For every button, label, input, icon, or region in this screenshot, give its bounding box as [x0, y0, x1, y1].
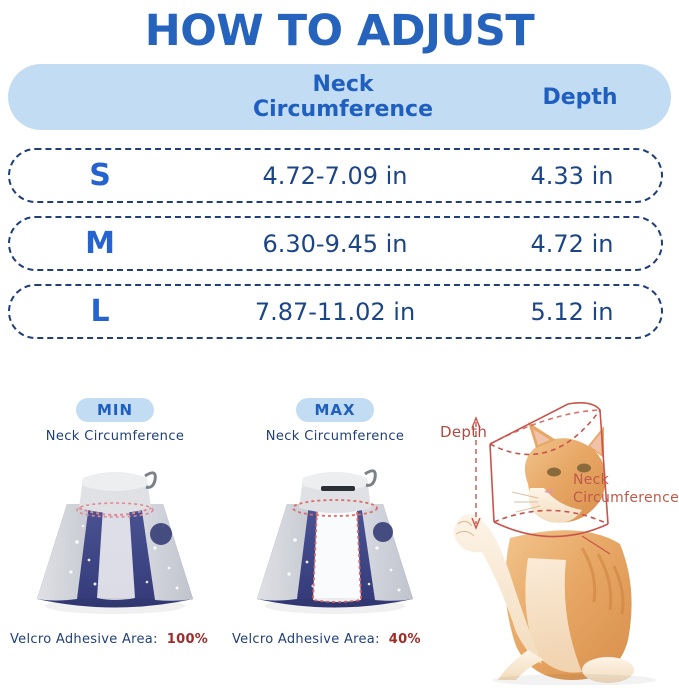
- cell-size: M: [65, 218, 135, 269]
- cell-neck-circumference: 6.30-9.45 in: [195, 218, 475, 269]
- product-image-min: [5, 456, 225, 621]
- cell-depth: 4.72 in: [497, 218, 647, 269]
- velcro-label-min: Velcro Adhesive Area:: [10, 632, 158, 647]
- table-row: S 4.72-7.09 in 4.33 in: [8, 148, 663, 203]
- product-panel-max: MAX Neck Circumference: [225, 398, 445, 444]
- cell-depth: 4.33 in: [497, 150, 647, 201]
- velcro-caption-min: Velcro Adhesive Area:100%: [10, 632, 208, 647]
- column-header-depth: Depth: [505, 64, 655, 130]
- page-title: HOW TO ADJUST: [0, 0, 679, 53]
- velcro-value-max: 40%: [389, 632, 421, 647]
- cell-size: L: [65, 286, 135, 337]
- column-header-neck-line2: Circumference: [253, 97, 433, 122]
- panel-caption-max: Neck Circumference: [225, 429, 445, 444]
- column-header-neck-line1: Neck: [312, 72, 373, 97]
- column-header-neck-circumference: Neck Circumference: [203, 64, 483, 130]
- panel-caption-min: Neck Circumference: [5, 429, 225, 444]
- velcro-label-max: Velcro Adhesive Area:: [232, 632, 380, 647]
- cell-neck-circumference: 4.72-7.09 in: [195, 150, 475, 201]
- cell-neck-circumference: 7.87-11.02 in: [195, 286, 475, 337]
- cell-size: S: [65, 150, 135, 201]
- table-header-bar: Neck Circumference Depth: [8, 64, 671, 130]
- diagram-label-depth: Depth: [440, 423, 487, 441]
- badge-max: MAX: [296, 398, 374, 422]
- diagram-label-neck-circumference: Neck Circumference: [573, 472, 679, 507]
- velcro-value-min: 100%: [167, 632, 208, 647]
- velcro-caption-max: Velcro Adhesive Area:40%: [232, 632, 421, 647]
- badge-min: MIN: [76, 398, 154, 422]
- product-panel-min: MIN Neck Circumference: [5, 398, 225, 444]
- diagram-label-neck-line2: Circumference: [573, 490, 679, 506]
- diagram-label-neck-line1: Neck: [573, 472, 609, 488]
- table-row: L 7.87-11.02 in 5.12 in: [8, 284, 663, 339]
- table-row: M 6.30-9.45 in 4.72 in: [8, 216, 663, 271]
- product-image-max: [225, 456, 445, 621]
- cell-depth: 5.12 in: [497, 286, 647, 337]
